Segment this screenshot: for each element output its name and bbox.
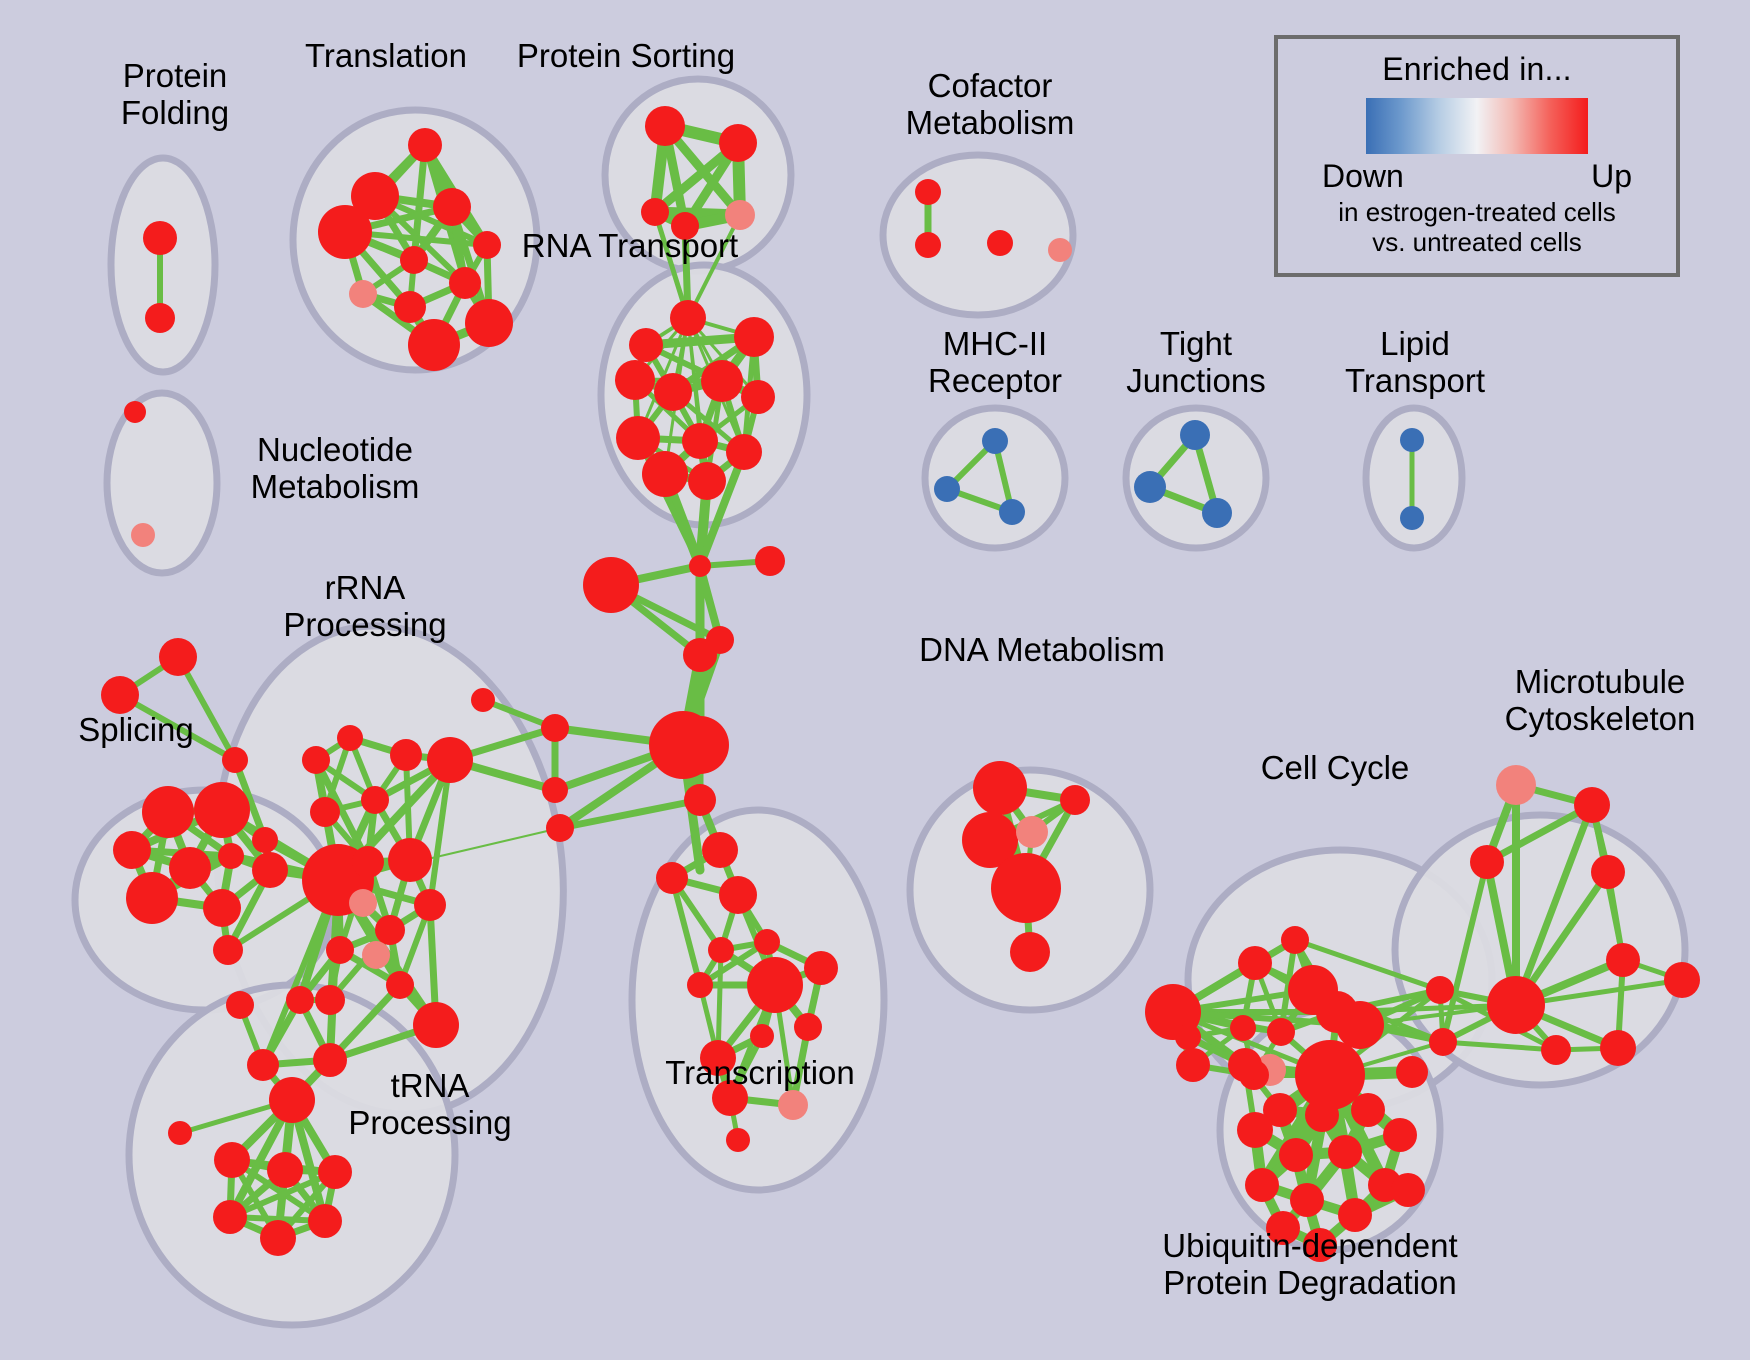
node <box>755 546 785 576</box>
node <box>361 786 389 814</box>
node <box>1281 926 1309 954</box>
node <box>1134 471 1166 503</box>
node <box>671 716 729 774</box>
node <box>616 416 660 460</box>
node <box>671 212 699 240</box>
node <box>252 827 278 853</box>
node <box>702 832 738 868</box>
node <box>687 972 713 998</box>
node <box>719 876 757 914</box>
node <box>725 200 755 230</box>
node <box>203 889 241 927</box>
node <box>143 221 177 255</box>
node <box>400 246 428 274</box>
node <box>1600 1030 1636 1066</box>
legend-title: Enriched in... <box>1382 51 1572 88</box>
node <box>318 1155 352 1189</box>
node <box>159 638 197 676</box>
legend-up-label: Up <box>1591 158 1632 195</box>
node <box>375 915 405 945</box>
node <box>313 1043 347 1077</box>
node <box>286 986 314 1014</box>
node <box>670 300 706 336</box>
node <box>915 232 941 258</box>
node <box>1338 1198 1372 1232</box>
node <box>349 889 377 917</box>
node <box>413 1002 459 1048</box>
node <box>260 1220 296 1256</box>
node <box>247 1049 279 1081</box>
node <box>688 462 726 500</box>
node <box>1238 946 1272 980</box>
node <box>222 747 248 773</box>
node <box>318 205 372 259</box>
legend-color-gradient-bar <box>1366 98 1588 154</box>
node <box>1396 1056 1428 1088</box>
legend-subtitle-line1: in estrogen-treated cells <box>1338 197 1615 227</box>
legend-down-label: Down <box>1322 158 1404 195</box>
node <box>252 852 288 888</box>
node <box>394 291 426 323</box>
node <box>1574 787 1610 823</box>
node <box>629 328 663 362</box>
node <box>1426 976 1454 1004</box>
node <box>302 746 330 774</box>
node <box>1487 976 1545 1034</box>
node <box>794 1013 822 1041</box>
node <box>1400 428 1424 452</box>
node <box>349 280 377 308</box>
node <box>337 725 363 751</box>
node <box>1279 1138 1313 1172</box>
node <box>124 401 146 423</box>
node <box>1060 785 1090 815</box>
node <box>1541 1035 1571 1065</box>
node <box>1336 1001 1384 1049</box>
node <box>656 862 688 894</box>
node <box>726 434 762 470</box>
node <box>706 626 734 654</box>
node <box>804 951 838 985</box>
node <box>310 797 340 827</box>
node <box>1351 1093 1385 1127</box>
node <box>269 1077 315 1123</box>
node <box>1010 932 1050 972</box>
node <box>390 739 422 771</box>
node <box>712 1080 748 1116</box>
node <box>1237 1112 1273 1148</box>
hull-nucleotide <box>107 393 217 573</box>
node <box>449 267 481 299</box>
node <box>689 555 711 577</box>
node <box>352 846 384 878</box>
node <box>267 1152 303 1188</box>
node <box>126 872 178 924</box>
node <box>754 929 780 955</box>
node <box>778 1090 808 1120</box>
node <box>1400 506 1424 530</box>
node <box>226 991 254 1019</box>
node <box>642 451 688 497</box>
node <box>218 843 244 869</box>
node <box>414 889 446 921</box>
node <box>915 179 941 205</box>
node <box>1048 238 1072 262</box>
node <box>684 784 716 816</box>
node <box>641 198 669 226</box>
node <box>1202 498 1232 528</box>
node <box>1391 1173 1425 1207</box>
node <box>1305 1098 1339 1132</box>
network-figure: Protein Folding Translation Protein Sort… <box>0 0 1750 1360</box>
node <box>214 1142 250 1178</box>
node <box>1383 1118 1417 1152</box>
legend-endpoint-labels: Down Up <box>1322 158 1632 195</box>
node <box>700 1040 736 1076</box>
node <box>101 676 139 714</box>
node <box>987 230 1013 256</box>
node <box>726 1128 750 1152</box>
node <box>750 1024 774 1048</box>
node <box>541 714 569 742</box>
node <box>1429 1028 1457 1056</box>
node <box>213 935 243 965</box>
node <box>194 782 250 838</box>
node <box>546 814 574 842</box>
node <box>654 373 692 411</box>
node <box>213 1200 247 1234</box>
node <box>362 941 390 969</box>
node <box>973 761 1027 815</box>
node <box>388 838 432 882</box>
node <box>583 557 639 613</box>
node <box>1290 1183 1324 1217</box>
node <box>473 231 501 259</box>
node <box>1591 855 1625 889</box>
node <box>1016 816 1048 848</box>
node <box>169 847 211 889</box>
node <box>1328 1135 1362 1169</box>
node <box>982 428 1008 454</box>
node <box>408 319 460 371</box>
node <box>1664 962 1700 998</box>
node <box>1295 1040 1365 1110</box>
node <box>615 360 655 400</box>
node <box>708 937 734 963</box>
node <box>741 380 775 414</box>
node <box>1496 765 1536 805</box>
node <box>113 831 151 869</box>
node <box>1176 1048 1210 1082</box>
node <box>168 1121 192 1145</box>
node <box>542 777 568 803</box>
node <box>315 985 345 1015</box>
node <box>386 971 414 999</box>
node <box>1230 1015 1256 1041</box>
node <box>471 688 495 712</box>
node <box>747 957 803 1013</box>
node <box>1266 1211 1300 1245</box>
node <box>427 737 473 783</box>
legend-subtitle-line2: vs. untreated cells <box>1372 227 1582 257</box>
node <box>701 360 743 402</box>
node <box>308 1204 342 1238</box>
node <box>991 853 1061 923</box>
node <box>719 124 757 162</box>
node <box>1267 1018 1295 1046</box>
node <box>682 423 718 459</box>
node <box>326 936 354 964</box>
node <box>465 299 513 347</box>
node <box>1180 420 1210 450</box>
node <box>142 786 194 838</box>
node <box>1470 845 1504 879</box>
node <box>1228 1048 1262 1082</box>
hull-cofactor <box>883 155 1073 315</box>
node <box>734 317 774 357</box>
node <box>408 128 442 162</box>
node <box>1606 943 1640 977</box>
node <box>1175 1024 1201 1050</box>
node <box>1303 1228 1337 1262</box>
node <box>999 499 1025 525</box>
node <box>1245 1168 1279 1202</box>
node <box>645 106 685 146</box>
node <box>433 188 471 226</box>
node <box>131 523 155 547</box>
legend: Enriched in... Down Up in estrogen-treat… <box>1274 35 1680 277</box>
node <box>934 476 960 502</box>
node <box>145 303 175 333</box>
